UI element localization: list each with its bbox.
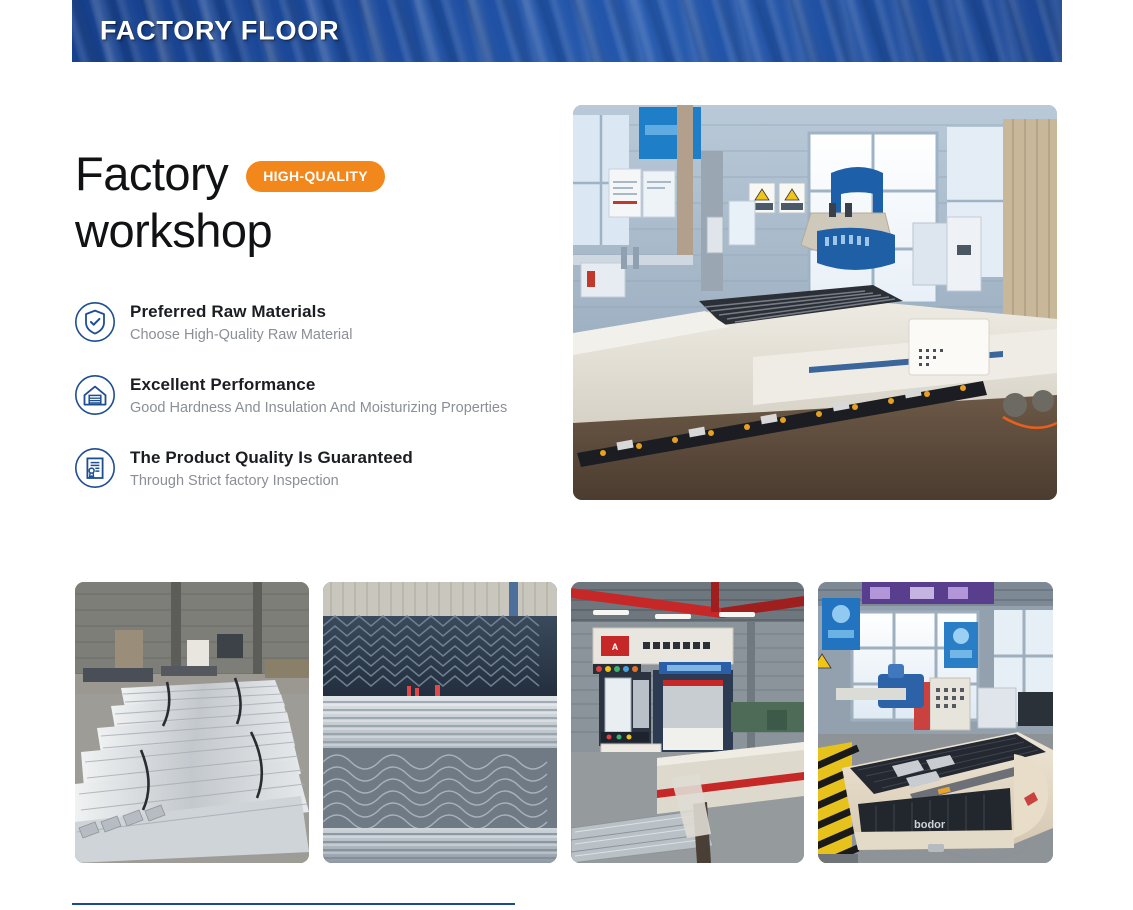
section-banner: FACTORY FLOOR [72, 0, 1062, 62]
gallery-photo-laser-tube-cutter[interactable]: A [571, 582, 804, 863]
feature-text-block: The Product Quality Is Guaranteed Throug… [130, 446, 413, 491]
shield-check-icon [74, 301, 116, 343]
feature-title: Preferred Raw Materials [130, 301, 352, 323]
feature-item-raw-materials: Preferred Raw Materials Choose High-Qual… [74, 300, 554, 345]
feature-subtitle: Through Strict factory Inspection [130, 472, 413, 491]
certificate-icon [74, 447, 116, 489]
gallery-row: A [75, 582, 1057, 863]
feature-subtitle: Good Hardness And Insulation And Moistur… [130, 399, 507, 418]
headline-block: Factory HIGH-QUALITY workshop [75, 145, 545, 259]
feature-item-performance: Excellent Performance Good Hardness And … [74, 373, 554, 418]
feature-item-quality: The Product Quality Is Guaranteed Throug… [74, 446, 554, 491]
factory-building-icon [74, 374, 116, 416]
feature-text-block: Preferred Raw Materials Choose High-Qual… [130, 300, 352, 345]
headline-line-2: workshop [75, 202, 545, 259]
gallery-photo-bodor-laser-cutter[interactable]: bodor [818, 582, 1053, 863]
svg-text:A: A [612, 642, 619, 652]
feature-text-block: Excellent Performance Good Hardness And … [130, 373, 507, 418]
feature-subtitle: Choose High-Quality Raw Material [130, 326, 352, 345]
feature-title: Excellent Performance [130, 374, 507, 396]
status-badge: HIGH-QUALITY [246, 161, 385, 192]
headline-line-1: Factory HIGH-QUALITY [75, 145, 545, 202]
gallery-photo-steel-profiles[interactable] [75, 582, 309, 863]
gallery-photo-corrugated-sheets[interactable] [323, 582, 557, 863]
hero-image [573, 105, 1057, 500]
banner-title: FACTORY FLOOR [100, 16, 339, 47]
feature-title: The Product Quality Is Guaranteed [130, 447, 413, 469]
page-title-line-2: workshop [75, 202, 272, 259]
bottom-divider [72, 903, 515, 905]
feature-list: Preferred Raw Materials Choose High-Qual… [74, 300, 554, 491]
page-title-line-1: Factory [75, 145, 228, 202]
factory-floor-page: FACTORY FLOOR Factory HIGH-QUALITY works… [0, 0, 1133, 910]
svg-text:bodor: bodor [914, 819, 946, 831]
